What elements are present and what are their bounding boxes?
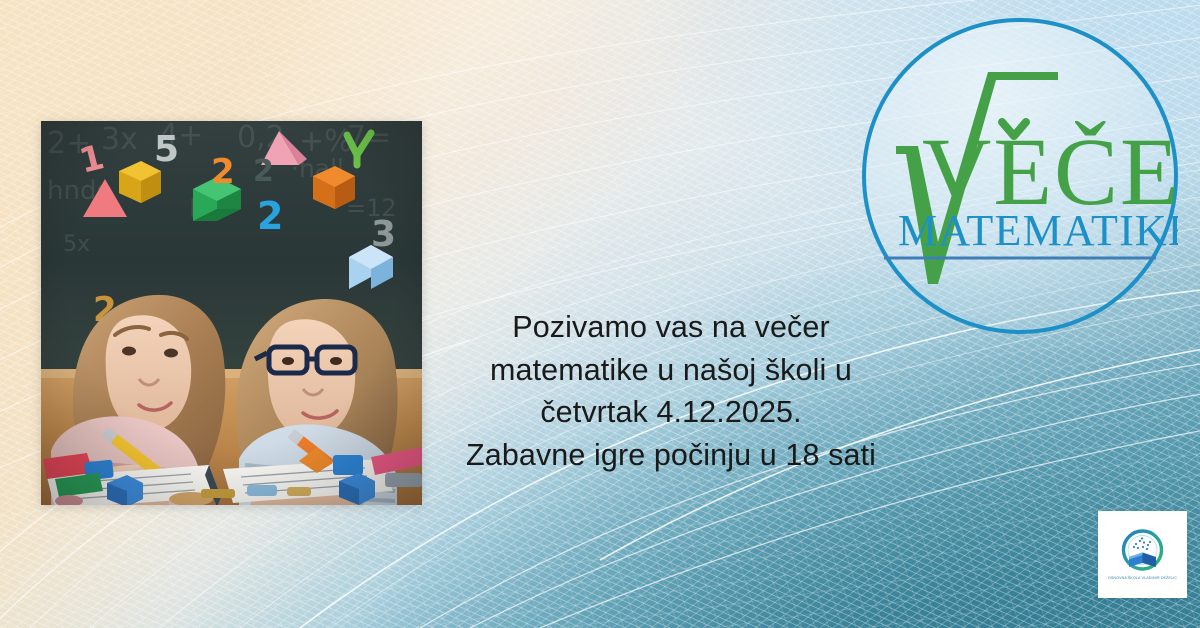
knowledge-dots-icon [1133,537,1151,550]
photo-frame: 2+ 3x 4+ 0,2 +% 7= hnds Ni ·hall =12 5x [41,121,422,505]
vecer-matematike-logo: VEČER MATEMATIKE [862,18,1178,334]
photo-two-girls-doing-math: 2+ 3x 4+ 0,2 +% 7= hnds Ni ·hall =12 5x [41,121,422,505]
message-line-3: četvrtak 4.12.2025. [440,391,902,434]
logo-artwork: VEČER MATEMATIKE [862,18,1178,334]
school-badge: OSNOVNA ŠKOLA VLADIMIR DEŽELIĆ [1098,511,1187,598]
invitation-message: Pozivamo vas na večer matematike u našoj… [440,306,902,476]
school-emblem-artwork: OSNOVNA ŠKOLA VLADIMIR DEŽELIĆ [1098,511,1187,598]
message-line-2: matematike u našoj školi u [440,349,902,392]
poster-canvas: 2+ 3x 4+ 0,2 +% 7= hnds Ni ·hall =12 5x [0,0,1200,628]
message-line-4: Zabavne igre počinju u 18 sati [440,434,902,477]
school-badge-caption: OSNOVNA ŠKOLA VLADIMIR DEŽELIĆ [1108,575,1177,580]
logo-subtitle: MATEMATIKE [898,206,1178,255]
message-line-1: Pozivamo vas na večer [440,306,902,349]
